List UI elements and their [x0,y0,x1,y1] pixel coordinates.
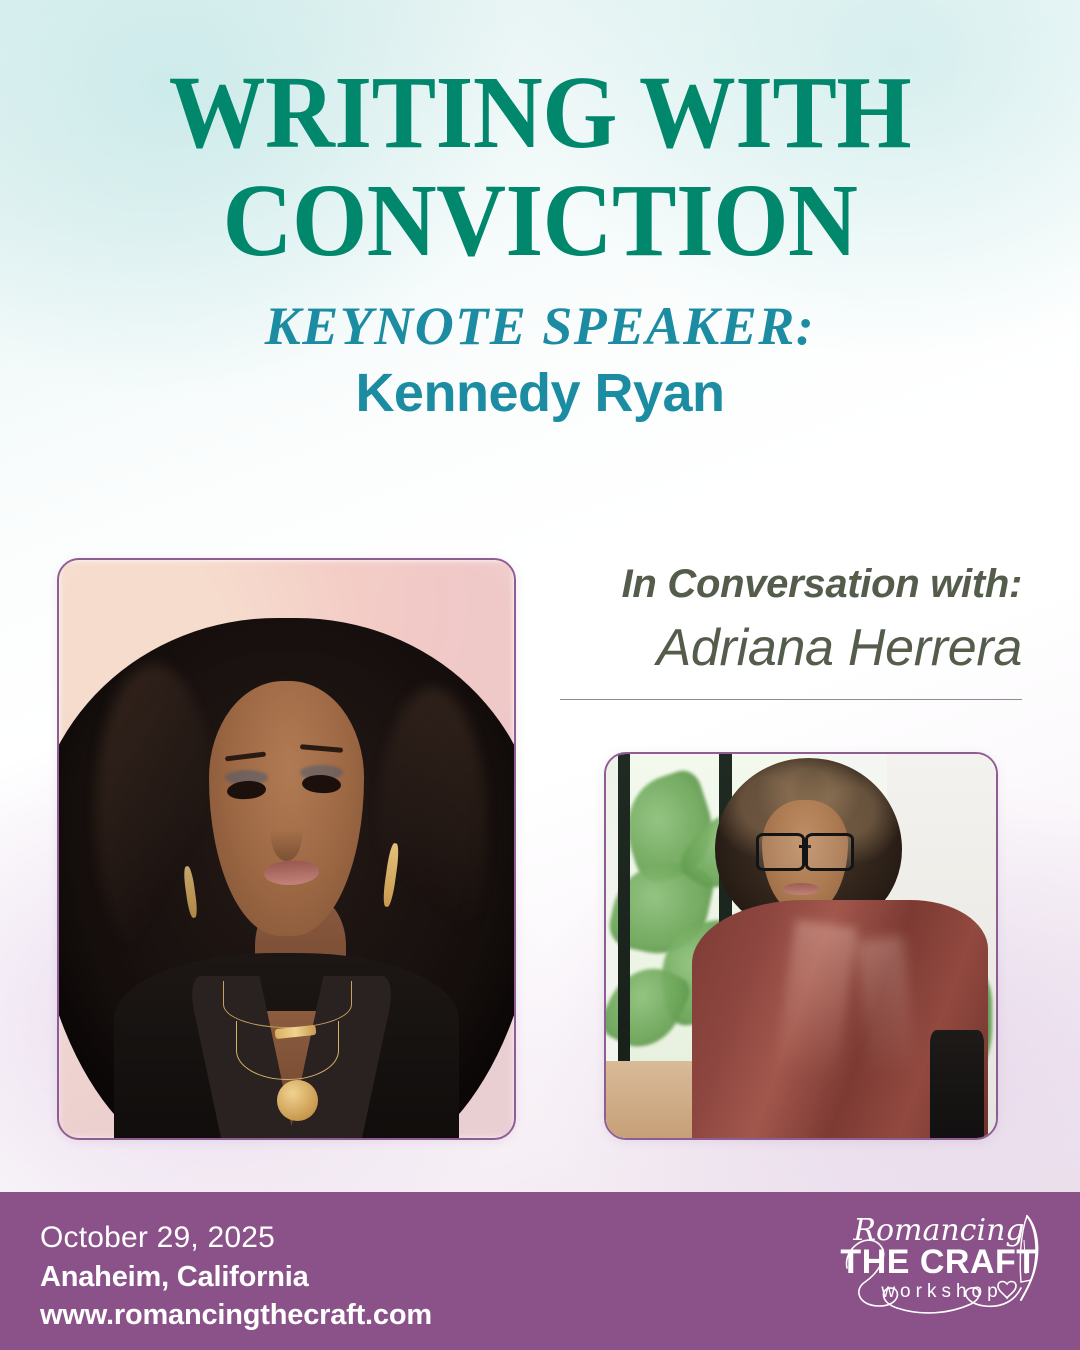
keynote-necklace-lower [236,1021,338,1080]
headline-block: WRITING WITH CONVICTION KEYNOTE SPEAKER:… [0,62,1080,421]
event-location: Anaheim, California [40,1258,432,1297]
conversation-guest-name: Adriana Herrera [560,620,1022,677]
poster-title-line-2: CONVICTION [38,170,1042,272]
guest-speaker-photo [604,752,998,1140]
logo-sub-word: workshop [880,1281,1002,1302]
logo-bold-word: THE CRAFT [840,1243,1037,1281]
keynote-speaker-photo [57,558,516,1140]
romancing-the-craft-logo: Romancing THE CRAFT workshop [839,1210,1054,1330]
event-website[interactable]: www.romancingthecraft.com [40,1296,432,1335]
guest-photo-inner [606,754,996,1138]
event-poster: WRITING WITH CONVICTION KEYNOTE SPEAKER:… [0,0,1080,1350]
guest-window-frame-1 [618,754,630,1077]
guest-eyeglasses [756,833,854,866]
keynote-speaker-name: Kennedy Ryan [0,365,1080,422]
conversation-label: In Conversation with: [560,562,1022,606]
event-details: October 29, 2025 Anaheim, California www… [40,1218,432,1335]
guest-lens-left [756,833,805,872]
guest-handbag [930,1030,985,1138]
guest-lens-right [805,833,854,872]
conversation-block: In Conversation with: Adriana Herrera [560,562,1022,700]
keynote-round-pendant [277,1080,318,1120]
keynote-hair-sheen-left [95,664,213,965]
guest-lips [783,883,818,895]
poster-title-line-1: WRITING WITH [38,62,1042,164]
keynote-nose [271,809,303,861]
conversation-divider [560,699,1022,700]
keynote-hair-sheen-right [378,687,487,976]
footer-bar: October 29, 2025 Anaheim, California www… [0,1192,1080,1350]
keynote-photo-inner [59,560,514,1138]
event-date: October 29, 2025 [40,1218,432,1258]
keynote-speaker-label: KEYNOTE SPEAKER: [0,298,1080,355]
